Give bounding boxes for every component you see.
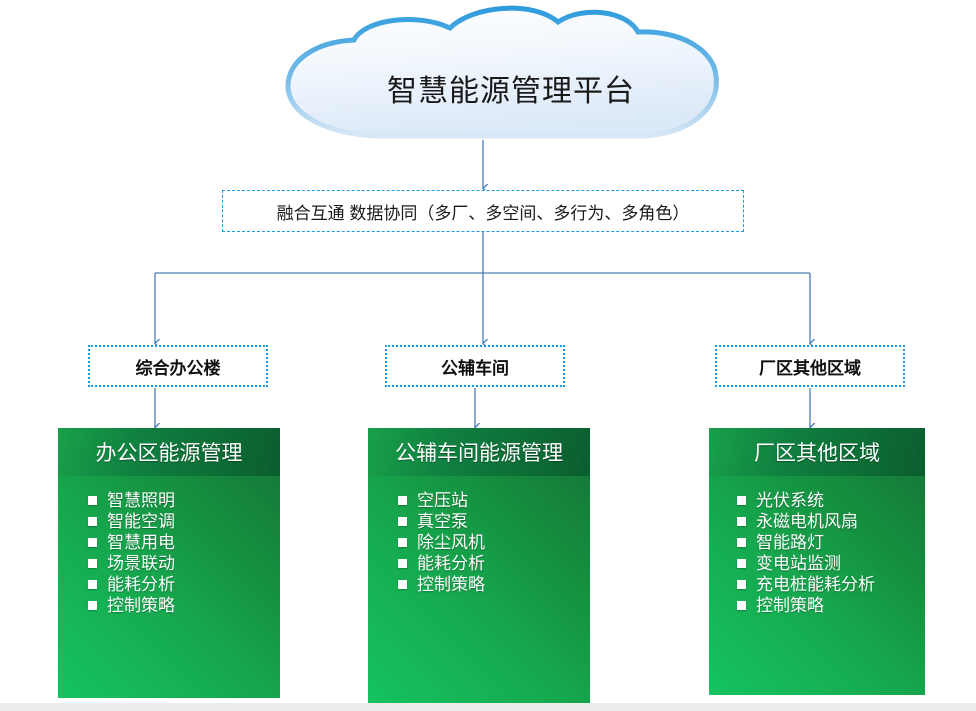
list-item[interactable]: 光伏系统	[737, 490, 925, 511]
list-item[interactable]: 真空泵	[398, 511, 590, 532]
diagram-canvas: 智慧能源管理平台 融合互通 数据协同（多厂、多空间、多行为、多角色） 综合办公楼…	[0, 0, 976, 711]
list-item-label: 除尘风机	[417, 534, 485, 551]
list-item-label: 能耗分析	[107, 576, 175, 593]
list-item[interactable]: 能耗分析	[88, 574, 280, 595]
list-item[interactable]: 控制策略	[88, 595, 280, 616]
list-item[interactable]: 智能路灯	[737, 532, 925, 553]
panel-feature-list: 智慧照明 智能空调 智慧用电 场景联动 能耗分析	[58, 490, 280, 616]
square-bullet-icon	[88, 496, 97, 505]
panel-header-label: 办公区能源管理	[96, 437, 243, 467]
panel-other-plant-areas: 厂区其他区域 光伏系统 永磁电机风扇 智能路灯 变电站监测	[709, 428, 925, 695]
list-item[interactable]: 场景联动	[88, 553, 280, 574]
list-item-label: 控制策略	[107, 597, 175, 614]
square-bullet-icon	[737, 517, 746, 526]
list-item[interactable]: 智能空调	[88, 511, 280, 532]
list-item[interactable]: 除尘风机	[398, 532, 590, 553]
square-bullet-icon	[737, 580, 746, 589]
list-item[interactable]: 能耗分析	[398, 553, 590, 574]
square-bullet-icon	[398, 517, 407, 526]
list-item-label: 智慧照明	[107, 492, 175, 509]
panel-body: 智慧照明 智能空调 智慧用电 场景联动 能耗分析	[58, 476, 280, 698]
panel-office-energy-management: 办公区能源管理 智慧照明 智能空调 智慧用电 场景联动	[58, 428, 280, 698]
list-item-label: 场景联动	[107, 555, 175, 572]
panel-header: 公辅车间能源管理	[368, 428, 590, 476]
square-bullet-icon	[88, 538, 97, 547]
panel-header: 办公区能源管理	[58, 428, 280, 476]
list-item[interactable]: 控制策略	[398, 574, 590, 595]
zone-box-utility-workshop[interactable]: 公辅车间	[385, 345, 565, 387]
list-item-label: 智慧用电	[107, 534, 175, 551]
zone-box-office-building[interactable]: 综合办公楼	[88, 345, 268, 387]
square-bullet-icon	[88, 559, 97, 568]
list-item-label: 智能空调	[107, 513, 175, 530]
panel-body: 光伏系统 永磁电机风扇 智能路灯 变电站监测 充电桩能耗分析	[709, 476, 925, 695]
list-item-label: 充电桩能耗分析	[756, 576, 875, 593]
list-item-label: 变电站监测	[756, 555, 841, 572]
zone-box-label: 厂区其他区域	[759, 354, 861, 379]
list-item-label: 空压站	[417, 492, 468, 509]
footer-rule	[0, 703, 976, 711]
list-item-label: 智能路灯	[756, 534, 824, 551]
list-item[interactable]: 智慧用电	[88, 532, 280, 553]
list-item[interactable]: 变电站监测	[737, 553, 925, 574]
integration-bar: 融合互通 数据协同（多厂、多空间、多行为、多角色）	[222, 190, 744, 232]
list-item-label: 控制策略	[756, 597, 824, 614]
square-bullet-icon	[398, 580, 407, 589]
square-bullet-icon	[737, 601, 746, 610]
list-item-label: 光伏系统	[756, 492, 824, 509]
panel-body: 空压站 真空泵 除尘风机 能耗分析 控制策略	[368, 476, 590, 708]
list-item[interactable]: 永磁电机风扇	[737, 511, 925, 532]
platform-title: 智慧能源管理平台	[282, 66, 740, 110]
list-item[interactable]: 控制策略	[737, 595, 925, 616]
panel-utility-workshop-energy-management: 公辅车间能源管理 空压站 真空泵 除尘风机 能耗分析	[368, 428, 590, 708]
list-item[interactable]: 空压站	[398, 490, 590, 511]
square-bullet-icon	[737, 559, 746, 568]
square-bullet-icon	[88, 601, 97, 610]
square-bullet-icon	[398, 496, 407, 505]
panel-feature-list: 空压站 真空泵 除尘风机 能耗分析 控制策略	[368, 490, 590, 595]
list-item[interactable]: 充电桩能耗分析	[737, 574, 925, 595]
square-bullet-icon	[737, 538, 746, 547]
zone-box-label: 公辅车间	[441, 354, 509, 379]
integration-bar-text: 融合互通 数据协同（多厂、多空间、多行为、多角色）	[277, 199, 690, 224]
list-item-label: 能耗分析	[417, 555, 485, 572]
square-bullet-icon	[398, 538, 407, 547]
cloud-shape: 智慧能源管理平台	[282, 4, 740, 146]
square-bullet-icon	[88, 580, 97, 589]
square-bullet-icon	[737, 496, 746, 505]
list-item[interactable]: 智慧照明	[88, 490, 280, 511]
list-item-label: 真空泵	[417, 513, 468, 530]
panel-feature-list: 光伏系统 永磁电机风扇 智能路灯 变电站监测 充电桩能耗分析	[709, 490, 925, 616]
square-bullet-icon	[398, 559, 407, 568]
panel-header: 厂区其他区域	[709, 428, 925, 476]
zone-box-other-areas[interactable]: 厂区其他区域	[715, 345, 905, 387]
list-item-label: 控制策略	[417, 576, 485, 593]
square-bullet-icon	[88, 517, 97, 526]
panel-header-label: 厂区其他区域	[754, 437, 880, 467]
panel-header-label: 公辅车间能源管理	[395, 437, 563, 467]
zone-box-label: 综合办公楼	[136, 354, 221, 379]
list-item-label: 永磁电机风扇	[756, 513, 858, 530]
